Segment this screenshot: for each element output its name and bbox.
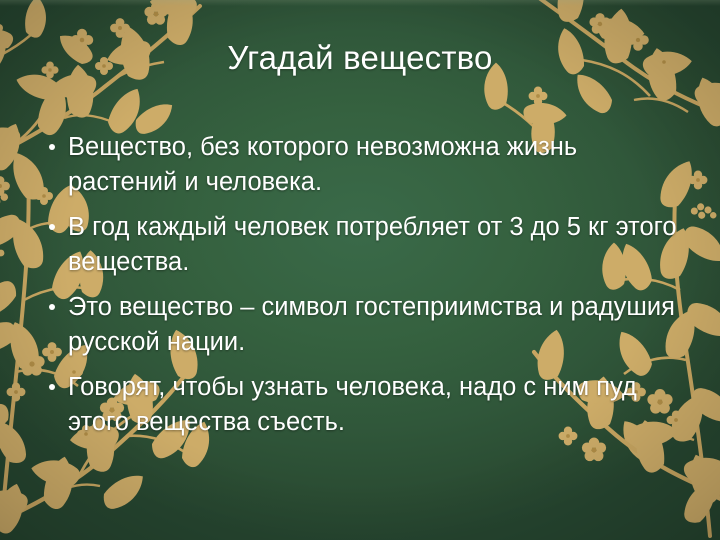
bullet-item-3: Это вещество – символ гостеприимства и р… [38,290,686,360]
bullet-list: Вещество, без которого невозможна жизнь … [38,130,686,450]
bullet-item-4: Говорят, чтобы узнать человека, надо с н… [38,370,686,440]
bullet-text-3: Это вещество – символ гостеприимства и р… [68,293,675,356]
bullet-item-2: В год каждый человек потребляет от 3 до … [38,210,686,280]
bullet-dot-icon [49,384,55,390]
slide-title: Угадай вещество [0,40,720,76]
presentation-slide: Угадай вещество Вещество, без которого н… [0,0,720,540]
bullet-text-1: Вещество, без которого невозможна жизнь … [68,133,577,196]
bullet-item-1: Вещество, без которого невозможна жизнь … [38,130,686,200]
bullet-text-2: В год каждый человек потребляет от 3 до … [68,213,677,276]
slide-content: Угадай вещество Вещество, без которого н… [0,0,720,540]
bullet-dot-icon [49,144,55,150]
bullet-text-4: Говорят, чтобы узнать человека, надо с н… [68,373,637,436]
bullet-dot-icon [49,224,55,230]
bullet-dot-icon [49,304,55,310]
